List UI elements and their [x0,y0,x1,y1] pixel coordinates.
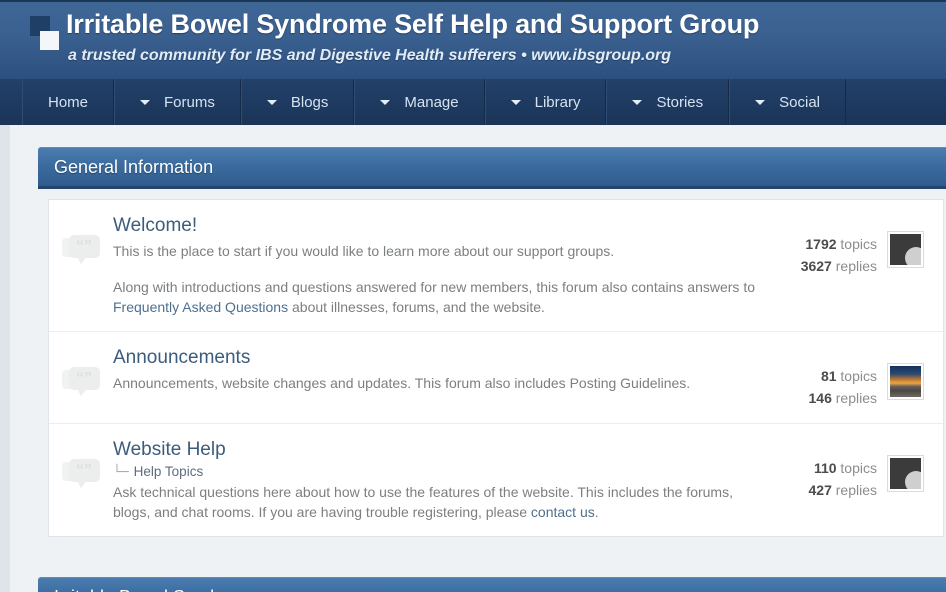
speech-bubble-icon: “” [62,235,100,265]
tree-branch-icon: └─ [113,465,129,480]
subforum-link[interactable]: Help Topics [134,464,204,479]
nav-item-social[interactable]: Social [729,79,846,125]
forum-description: This is the place to start if you would … [113,241,755,317]
replies-number: 146 [809,390,832,406]
avatar-image [890,458,921,489]
replies-label: replies [836,482,877,498]
chevron-down-icon [380,100,390,105]
forum-description-line: Ask technical questions here about how t… [113,482,755,522]
replies-label: replies [836,258,877,274]
forum-icon-cell: “” [49,345,113,397]
chevron-down-icon [755,100,765,105]
forum-category: General Information“”Welcome!This is the… [38,147,946,549]
nav-item-home[interactable]: Home [22,79,114,125]
replies-count: 146 replies [769,387,877,409]
forum-description-text: about illnesses, forums, and the website… [288,299,545,315]
nav-item-stories[interactable]: Stories [606,79,729,125]
quote-marks-glyph: “” [76,461,92,481]
forum-info: Welcome!This is the place to start if yo… [113,213,769,317]
forum-description-text: Ask technical questions here about how t… [113,484,733,520]
site-tagline: a trusted community for IBS and Digestiv… [68,47,671,65]
forum-description-line: This is the place to start if you would … [113,241,755,261]
logo-square-light [40,31,59,50]
topics-label: topics [840,460,877,476]
forum-row: “”Welcome!This is the place to start if … [49,200,943,332]
site-title: Irritable Bowel Syndrome Self Help and S… [66,9,759,40]
forum-category-list: General Information“”Welcome!This is the… [10,147,946,592]
nav-item-library[interactable]: Library [485,79,607,125]
chevron-down-icon [267,100,277,105]
topics-label: topics [840,368,877,384]
content-area: General Information“”Welcome!This is the… [10,125,946,592]
sunset-photo-avatar[interactable] [887,363,924,400]
avatar-graphic [890,458,921,489]
forum-title-link[interactable]: Welcome! [113,213,755,239]
topics-number: 110 [814,460,837,476]
topics-count: 81 topics [769,365,877,387]
forum-info: AnnouncementsAnnouncements, website chan… [113,345,769,393]
topics-label: topics [840,236,877,252]
category-spacer [10,549,946,577]
chevron-down-icon [632,100,642,105]
forum-description: Ask technical questions here about how t… [113,482,755,522]
forum-icon-cell: “” [49,213,113,265]
forum-description-text: . [595,504,599,520]
nav-item-forums[interactable]: Forums [114,79,241,125]
nav-item-manage[interactable]: Manage [354,79,484,125]
last-post-cell [887,213,943,268]
quote-marks-glyph: “” [76,369,92,389]
nav-item-label: Forums [164,94,215,111]
avatar-image [890,366,921,397]
contact-us-link[interactable]: contact us [531,504,595,520]
topics-number: 81 [821,368,837,384]
chevron-down-icon [140,100,150,105]
nav-item-label: Social [779,94,820,111]
nav-item-label: Home [48,94,88,111]
replies-number: 427 [809,482,832,498]
forum-description-line: Announcements, website changes and updat… [113,373,755,393]
category-header[interactable]: General Information [38,147,946,189]
forum-description: Announcements, website changes and updat… [113,373,755,393]
two-squares-logo-icon[interactable] [30,16,62,50]
nav-item-label: Manage [404,94,458,111]
forum-table: “”Welcome!This is the place to start if … [48,199,944,537]
nav-item-label: Stories [656,94,703,111]
forum-title-link[interactable]: Announcements [113,345,755,371]
chevron-down-icon [511,100,521,105]
speech-bubble-icon: “” [62,367,100,397]
avatar-image [890,234,921,265]
nav-item-blogs[interactable]: Blogs [241,79,355,125]
topics-number: 1792 [805,236,836,252]
page-root: Irritable Bowel Syndrome Self Help and S… [0,0,946,592]
avatar-graphic [890,234,921,265]
silhouette-avatar[interactable] [887,231,924,268]
forum-row: “”Website Help└─Help TopicsAsk technical… [49,424,943,536]
topics-count: 110 topics [769,457,877,479]
avatar-graphic [890,366,921,397]
forum-description-text: Along with introductions and questions a… [113,279,755,295]
category-title: Irritable Bowel Syndrome [54,587,255,592]
quote-marks-glyph: “” [76,237,92,257]
subforum-list: └─Help Topics [113,464,755,480]
forum-stats: 81 topics146 replies [769,345,887,409]
nav-item-label: Blogs [291,94,329,111]
forum-icon-cell: “” [49,437,113,489]
topics-count: 1792 topics [769,233,877,255]
faq-link[interactable]: Frequently Asked Questions [113,299,288,315]
last-post-cell [887,437,943,492]
replies-count: 427 replies [769,479,877,501]
category-title: General Information [54,157,213,178]
speech-bubble-icon: “” [62,459,100,489]
replies-count: 3627 replies [769,255,877,277]
replies-number: 3627 [801,258,832,274]
category-header[interactable]: Irritable Bowel Syndrome [38,577,946,592]
forum-stats: 110 topics427 replies [769,437,887,501]
forum-row: “”AnnouncementsAnnouncements, website ch… [49,332,943,424]
site-header: Irritable Bowel Syndrome Self Help and S… [0,0,946,79]
forum-title-link[interactable]: Website Help [113,437,755,463]
forum-info: Website Help└─Help TopicsAsk technical q… [113,437,769,522]
replies-label: replies [836,390,877,406]
category-body: “”Welcome!This is the place to start if … [38,189,946,549]
nav-item-label: Library [535,94,581,111]
forum-description-line: Along with introductions and questions a… [113,277,755,317]
silhouette-avatar[interactable] [887,455,924,492]
forum-stats: 1792 topics3627 replies [769,213,887,277]
main-navigation: HomeForumsBlogsManageLibraryStoriesSocia… [0,79,946,125]
last-post-cell [887,345,943,400]
forum-category: Irritable Bowel Syndrome [38,577,946,592]
